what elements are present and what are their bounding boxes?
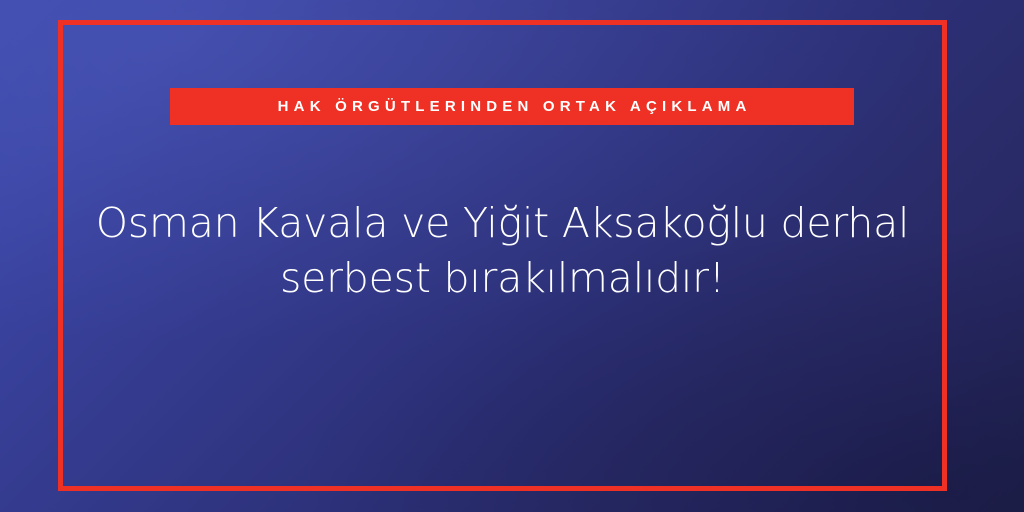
poster-content: HAK ÖRGÜTLERINDEN ORTAK AÇIKLAMA Osman K… bbox=[0, 0, 1024, 512]
statement-badge-label: HAK ÖRGÜTLERINDEN ORTAK AÇIKLAMA bbox=[272, 99, 751, 114]
statement-badge: HAK ÖRGÜTLERINDEN ORTAK AÇIKLAMA bbox=[170, 88, 854, 125]
headline-line-2: serbest bırakılmalıdır! bbox=[62, 251, 943, 306]
headline-line-1: Osman Kavala ve Yiğit Aksakoğlu derhal bbox=[62, 196, 943, 251]
headline: Osman Kavala ve Yiğit Aksakoğlu derhal s… bbox=[62, 196, 943, 306]
statement-poster: HAK ÖRGÜTLERINDEN ORTAK AÇIKLAMA Osman K… bbox=[0, 0, 1024, 512]
